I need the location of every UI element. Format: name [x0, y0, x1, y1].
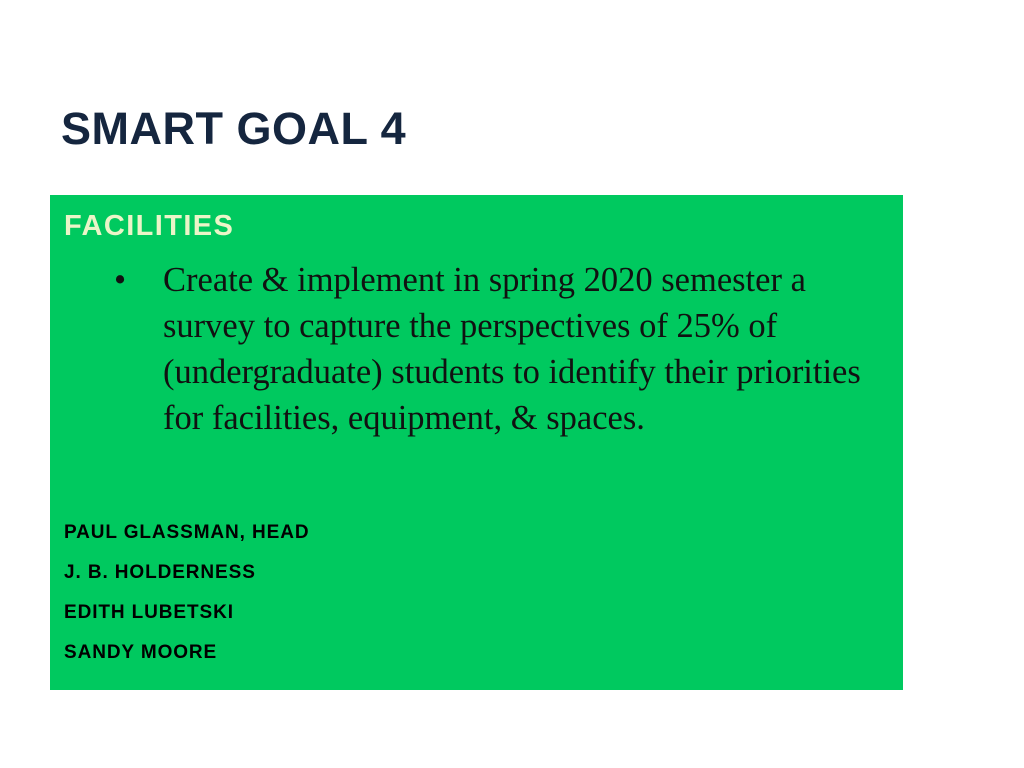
page-title: SMART GOAL 4: [61, 105, 406, 152]
list-item: SANDY MOORE: [64, 633, 309, 673]
list-item: PAUL GLASSMAN, HEAD: [64, 513, 309, 553]
panel-heading: FACILITIES: [64, 210, 234, 243]
bullet-marker-icon: •: [114, 257, 126, 303]
list-item: J. B. HOLDERNESS: [64, 553, 309, 593]
slide-canvas: SMART GOAL 4 FACILITIES • Create & imple…: [0, 0, 1024, 768]
member-list: PAUL GLASSMAN, HEAD J. B. HOLDERNESS EDI…: [64, 513, 309, 673]
list-item: • Create & implement in spring 2020 seme…: [50, 257, 903, 441]
content-panel: FACILITIES • Create & implement in sprin…: [50, 195, 903, 690]
list-item: EDITH LUBETSKI: [64, 593, 309, 633]
bullet-text: Create & implement in spring 2020 semest…: [163, 261, 861, 437]
bullet-list: • Create & implement in spring 2020 seme…: [50, 257, 903, 441]
